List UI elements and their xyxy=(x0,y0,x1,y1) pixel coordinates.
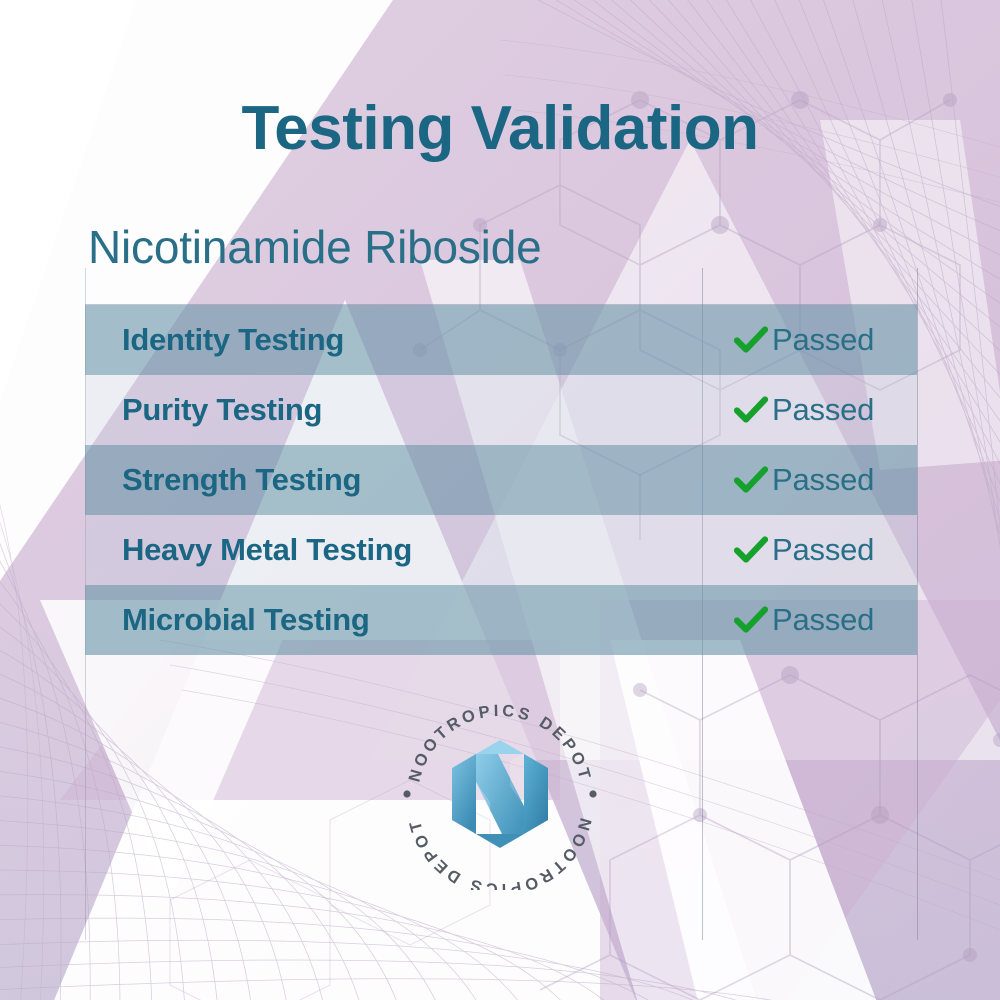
test-name: Purity Testing xyxy=(85,392,702,428)
check-icon xyxy=(734,325,768,355)
page-title: Testing Validation xyxy=(0,96,1000,163)
table-row: Heavy Metal Testing Passed xyxy=(85,515,917,585)
check-icon xyxy=(734,535,768,565)
test-name: Identity Testing xyxy=(85,322,702,358)
logo-dot-left xyxy=(403,790,410,797)
testing-results-table: Identity Testing Passed Purity Testing P… xyxy=(85,305,917,655)
test-result: Passed xyxy=(702,322,917,358)
check-icon xyxy=(734,605,768,635)
table-row: Purity Testing Passed xyxy=(85,375,917,445)
product-name: Nicotinamide Riboside xyxy=(88,222,541,273)
check-icon xyxy=(734,465,768,495)
status-label: Passed xyxy=(772,602,874,638)
logo-dot-right xyxy=(589,790,596,797)
test-result: Passed xyxy=(702,462,917,498)
nootropics-depot-logo: NOOTROPICS DEPOT NOOTROPICS DEPOT xyxy=(380,690,620,890)
table-row: Identity Testing Passed xyxy=(85,305,917,375)
table-row: Strength Testing Passed xyxy=(85,445,917,515)
test-result: Passed xyxy=(702,602,917,638)
status-label: Passed xyxy=(772,462,874,498)
test-result: Passed xyxy=(702,532,917,568)
table-row: Microbial Testing Passed xyxy=(85,585,917,655)
test-name: Heavy Metal Testing xyxy=(85,532,702,568)
test-result: Passed xyxy=(702,392,917,428)
status-label: Passed xyxy=(772,322,874,358)
status-label: Passed xyxy=(772,392,874,428)
check-icon xyxy=(734,395,768,425)
table-right-divider xyxy=(917,268,918,940)
test-name: Microbial Testing xyxy=(85,602,702,638)
infographic-canvas: Testing Validation Nicotinamide Riboside… xyxy=(0,0,1000,1000)
test-name: Strength Testing xyxy=(85,462,702,498)
logo-monogram xyxy=(452,740,548,848)
status-label: Passed xyxy=(772,532,874,568)
